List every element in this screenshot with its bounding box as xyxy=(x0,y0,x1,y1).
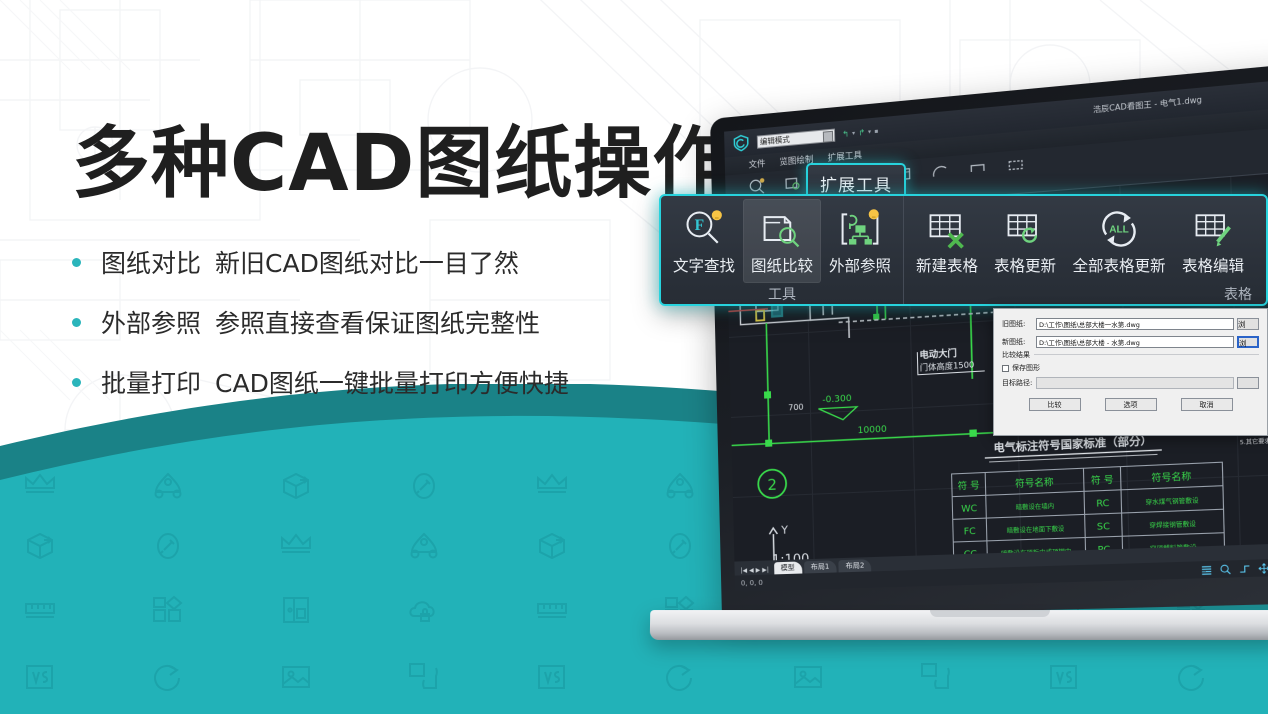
list-item: 外部参照参照直接查看保证图纸完整性 xyxy=(72,300,569,344)
last-tab-icon[interactable]: ▶| xyxy=(762,566,769,573)
tab-nav-buttons[interactable]: |◀ ◀ ▶ ▶| xyxy=(740,566,768,574)
table-new-icon xyxy=(925,207,969,251)
new-drawing-row: 新图纸: D:\工作\图纸\总部大楼 - 水第.dwg 浏 xyxy=(1002,336,1259,348)
feature-list: 图纸对比新旧CAD图纸对比一目了然 外部参照参照直接查看保证图纸完整性 批量打印… xyxy=(72,240,569,420)
more-icon[interactable]: ▪ xyxy=(874,127,878,135)
ribbon-button-label: 全部表格更新 xyxy=(1072,254,1165,276)
quick-access-toolbar[interactable]: ↰ ▾ ↱ ▾ ▪ xyxy=(842,126,878,138)
undo-icon[interactable]: ↰ xyxy=(842,129,849,139)
ribbon-button-label: 新建表格 xyxy=(916,254,978,276)
svg-text:Y: Y xyxy=(780,523,788,537)
polyline-icon[interactable] xyxy=(1238,562,1251,574)
ribbon-group-label: 工具 xyxy=(661,283,903,304)
ribbon-button-table-edit[interactable]: 表格编辑 xyxy=(1174,199,1252,283)
new-drawing-label: 新图纸: xyxy=(1002,337,1036,347)
ribbon-button-label: 图纸比较 xyxy=(751,254,813,276)
menu-item-file[interactable]: 文件 xyxy=(748,157,765,171)
svg-text:符 号: 符 号 xyxy=(958,479,980,492)
chevron-down-icon[interactable]: ▾ xyxy=(852,129,855,136)
zoom-icon[interactable] xyxy=(1219,563,1232,575)
coordinates-readout: 0, 0, 0 xyxy=(741,579,763,588)
first-tab-icon[interactable]: |◀ xyxy=(740,567,747,574)
tab-layout1[interactable]: 布局1 xyxy=(804,560,837,573)
cancel-button[interactable]: 取消 xyxy=(1181,398,1233,411)
ribbon-button-table-update[interactable]: 表格更新 xyxy=(986,199,1064,283)
menu-item-ext[interactable]: 扩展工具 xyxy=(827,148,862,163)
ribbon-button-label: 文字查找 xyxy=(673,254,735,276)
dialog-button-row: 比较 选项 取消 xyxy=(1002,398,1259,411)
status-icon-group[interactable] xyxy=(1200,561,1268,576)
text-find-icon: F xyxy=(682,207,726,251)
ribbon-button-label: 表格编辑 xyxy=(1182,254,1244,276)
ribbon-button-label: 表格更新 xyxy=(994,254,1056,276)
ribbon-group-items: 新建表格 表格更新 xyxy=(904,196,1266,283)
bullet-dot-icon xyxy=(72,258,81,267)
svg-text:穿焊接钢管敷设: 穿焊接钢管敷设 xyxy=(1149,520,1196,530)
feature-desc: 参照直接查看保证图纸完整性 xyxy=(215,309,540,338)
poster-stage: 470HZ xyxy=(0,0,1268,714)
ribbon-callout: F 文字查找 图纸比较 xyxy=(659,194,1268,306)
feature-desc: CAD图纸一键批量打印方便快捷 xyxy=(215,369,569,398)
redo-icon[interactable]: ↱ xyxy=(858,127,865,137)
window-title: 浩辰CAD看图王 - 电气1.dwg xyxy=(1093,94,1202,116)
table-update-all-icon: ALL xyxy=(1097,207,1141,251)
old-drawing-label: 旧图纸: xyxy=(1002,319,1036,329)
ribbon-button-drawing-compare[interactable]: 图纸比较 xyxy=(743,199,821,283)
arc-icon-small[interactable] xyxy=(929,161,950,181)
ribbon-button-table-update-all[interactable]: ALL 全部表格更新 xyxy=(1064,199,1174,283)
target-path-input[interactable] xyxy=(1036,377,1234,389)
feature-lead: 批量打印 xyxy=(101,369,201,398)
svg-text:FC: FC xyxy=(964,527,976,538)
svg-text:-0.300: -0.300 xyxy=(822,394,852,406)
ribbon-button-text-find[interactable]: F 文字查找 xyxy=(665,199,743,283)
list-item: 批量打印CAD图纸一键批量打印方便快捷 xyxy=(72,360,569,404)
app-logo-icon xyxy=(732,133,750,153)
old-browse-button[interactable]: 浏 xyxy=(1237,318,1259,330)
bullet-dot-icon xyxy=(72,378,81,387)
ribbon-group-label: 表格 xyxy=(904,283,1266,304)
feature-desc: 新旧CAD图纸对比一目了然 xyxy=(215,249,519,278)
ribbon-group-items: F 文字查找 图纸比较 xyxy=(661,196,903,283)
ribbon-group-tools: F 文字查找 图纸比较 xyxy=(661,196,903,304)
select-region-icon-small[interactable] xyxy=(1005,155,1027,175)
compare-dialog: 旧图纸: D:\工作\图纸\总部大楼一水第.dwg 浏 新图纸: D:\工作\图… xyxy=(993,308,1268,436)
svg-text:WC: WC xyxy=(961,504,977,515)
target-browse-button[interactable] xyxy=(1237,377,1259,389)
compare-result-label: 比较结果 xyxy=(1002,350,1034,360)
svg-text:暗敷设在墙内: 暗敷设在墙内 xyxy=(1016,502,1055,512)
new-browse-button[interactable]: 浏 xyxy=(1237,336,1259,348)
feature-lead: 图纸对比 xyxy=(101,249,201,278)
tab-model[interactable]: 模型 xyxy=(774,561,802,574)
checkbox-box-icon[interactable] xyxy=(1002,365,1009,372)
compare-button[interactable]: 比较 xyxy=(1029,398,1081,411)
layers-icon[interactable] xyxy=(1200,564,1213,576)
table-update-icon xyxy=(1003,207,1047,251)
ribbon-button-external-reference[interactable]: 外部参照 xyxy=(821,199,899,283)
dimension-icon-small[interactable] xyxy=(967,158,989,178)
prev-tab-icon[interactable]: ◀ xyxy=(749,567,754,574)
external-reference-icon xyxy=(838,207,882,251)
svg-text:700: 700 xyxy=(788,402,803,412)
compare-result-group: 比较结果 保存图形 目标路径: xyxy=(1002,354,1259,389)
next-tab-icon[interactable]: ▶ xyxy=(756,567,761,574)
target-path-label: 目标路径: xyxy=(1002,378,1036,388)
drawing-compare-icon xyxy=(760,207,804,251)
svg-text:F: F xyxy=(695,216,705,233)
save-drawing-checkbox[interactable]: 保存图形 xyxy=(1002,363,1259,373)
laptop-base xyxy=(650,610,1268,640)
move-icon[interactable] xyxy=(1258,562,1268,574)
svg-text:RC: RC xyxy=(1096,499,1109,510)
tab-layout2[interactable]: 布局2 xyxy=(838,559,871,572)
svg-text:10000: 10000 xyxy=(857,425,887,437)
ribbon-button-table-new[interactable]: 新建表格 xyxy=(908,199,986,283)
ribbon-button-label: 外部参照 xyxy=(829,254,891,276)
drawing-compare-icon-small[interactable] xyxy=(783,174,803,194)
svg-text:2: 2 xyxy=(767,475,777,494)
svg-text:SC: SC xyxy=(1097,522,1110,533)
mode-selector[interactable]: 编辑模式 xyxy=(757,128,835,148)
save-drawing-label: 保存图形 xyxy=(1012,363,1040,373)
svg-text:ALL: ALL xyxy=(1109,224,1129,235)
ribbon-group-table: 新建表格 表格更新 xyxy=(903,196,1266,304)
chevron-down-icon[interactable]: ▾ xyxy=(868,128,871,135)
old-drawing-row: 旧图纸: D:\工作\图纸\总部大楼一水第.dwg 浏 xyxy=(1002,318,1259,330)
target-path-row: 目标路径: xyxy=(1002,377,1259,389)
table-edit-icon xyxy=(1191,207,1235,251)
svg-text:符 号: 符 号 xyxy=(1091,473,1114,487)
bullet-dot-icon xyxy=(72,318,81,327)
feature-lead: 外部参照 xyxy=(101,309,201,338)
new-drawing-input[interactable]: D:\工作\图纸\总部大楼 - 水第.dwg xyxy=(1036,336,1234,348)
list-item: 图纸对比新旧CAD图纸对比一目了然 xyxy=(72,240,569,284)
old-drawing-input[interactable]: D:\工作\图纸\总部大楼一水第.dwg xyxy=(1036,318,1234,330)
page-title: 多种CAD图纸操作 xyxy=(72,125,731,203)
options-button[interactable]: 选项 xyxy=(1105,398,1157,411)
